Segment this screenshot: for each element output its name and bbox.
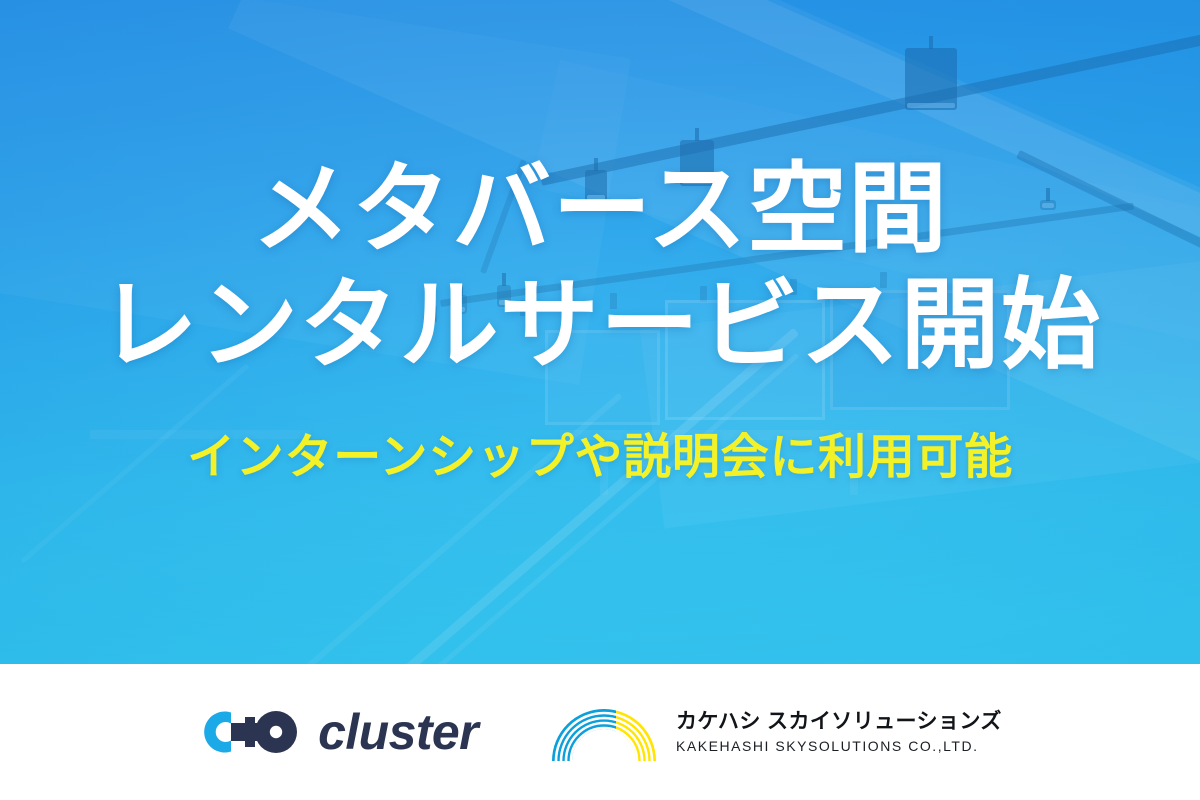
- hero-subtitle: インターンシップや説明会に利用可能: [187, 429, 1013, 487]
- hero-text-group: メタバース空間 レンタルサービス開始 インターンシップや説明会に利用可能: [0, 0, 1200, 664]
- kakehashi-text-block: カケハシ スカイソリューションズ KAKEHASHI SKYSOLUTIONS …: [676, 711, 1002, 753]
- kakehashi-logo: カケハシ スカイソリューションズ KAKEHASHI SKYSOLUTIONS …: [548, 701, 1002, 763]
- kakehashi-name-en: KAKEHASHI SKYSOLUTIONS CO.,LTD.: [676, 739, 1002, 753]
- promo-banner: メタバース空間 レンタルサービス開始 インターンシップや説明会に利用可能 clu…: [0, 0, 1200, 800]
- cluster-logo: cluster: [198, 704, 478, 760]
- cluster-mark-icon: [198, 704, 302, 760]
- kakehashi-bridge-mark-icon: [548, 701, 660, 763]
- cluster-wordmark: cluster: [318, 707, 478, 757]
- hero-section: メタバース空間 レンタルサービス開始 インターンシップや説明会に利用可能: [0, 0, 1200, 664]
- kakehashi-name-jp: カケハシ スカイソリューションズ: [676, 711, 1002, 732]
- hero-title-line-2: レンタルサービス開始: [99, 267, 1101, 383]
- hero-title: メタバース空間 レンタルサービス開始: [99, 151, 1101, 383]
- hero-title-line-1: メタバース空間: [99, 151, 1101, 267]
- logo-footer: cluster: [0, 664, 1200, 800]
